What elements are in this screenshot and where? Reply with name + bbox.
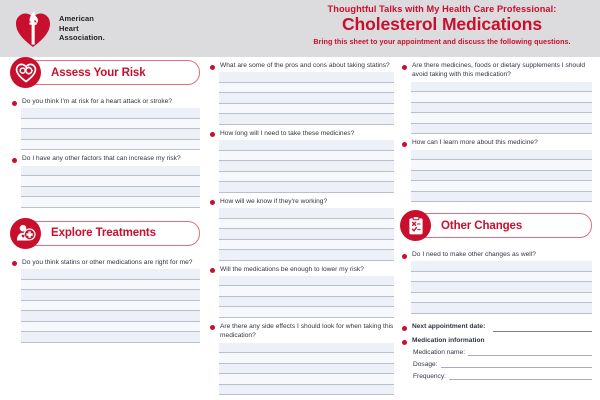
answer-line[interactable] (21, 140, 200, 151)
question-text: How long will I need to take these medic… (220, 129, 354, 138)
question-text: Do I need to make other changes as well? (412, 250, 536, 259)
answer-line[interactable] (411, 150, 592, 161)
bullet-icon (210, 132, 215, 137)
answer-line[interactable] (21, 119, 200, 130)
next-appointment-input[interactable] (493, 323, 592, 332)
answer-line[interactable] (411, 160, 592, 171)
bullet-icon (402, 326, 407, 331)
next-appointment-label: Next appointment date: (412, 323, 485, 330)
clipboard-checklist-icon (400, 210, 431, 241)
question-item: How long will I need to take these medic… (208, 129, 394, 193)
answer-line[interactable] (219, 93, 394, 104)
aha-logo-text: American Heart Association. (59, 14, 105, 44)
dosage-input[interactable] (441, 360, 592, 368)
answer-line[interactable] (21, 166, 200, 177)
answer-line[interactable] (219, 72, 394, 83)
answer-line[interactable] (21, 108, 200, 119)
worksheet-body: Assess Your Risk (0, 57, 600, 400)
logo-line-2: Heart (59, 24, 105, 34)
answer-line[interactable] (219, 151, 394, 162)
answer-line[interactable] (219, 353, 394, 364)
answer-lines[interactable] (219, 72, 394, 125)
answer-line[interactable] (411, 82, 592, 93)
section-title-explore-treatments: Explore Treatments (25, 227, 156, 239)
question-text: Are there medicines, foods or dietary su… (412, 61, 592, 80)
answer-line[interactable] (21, 129, 200, 140)
aha-heart-torch-logo-icon (14, 9, 52, 49)
section-title-other-changes: Other Changes (415, 220, 522, 232)
question-text: Do I have any other factors that can inc… (22, 154, 181, 163)
medication-name-input[interactable] (468, 348, 592, 356)
question-text: Are there any side effects I should look… (220, 322, 394, 341)
answer-line[interactable] (219, 286, 394, 297)
answer-line[interactable] (219, 297, 394, 308)
bullet-icon (210, 200, 215, 205)
question-text: How will we know if they're working? (220, 197, 327, 206)
bullet-icon (210, 268, 215, 273)
frequency-label: Frequency: (413, 373, 446, 380)
answer-line[interactable] (411, 293, 592, 304)
answer-line[interactable] (219, 208, 394, 219)
question-text: Do you think I'm at risk for a heart att… (22, 97, 172, 106)
answer-line[interactable] (21, 187, 200, 198)
section-title-assess-risk: Assess Your Risk (25, 67, 146, 79)
person-medical-cross-icon (10, 218, 41, 249)
bullet-icon (12, 158, 17, 163)
answer-line[interactable] (219, 172, 394, 183)
bullet-icon (402, 340, 407, 345)
column-middle: What are some of the pros and cons about… (208, 57, 394, 399)
answer-lines[interactable] (219, 208, 394, 261)
answer-line[interactable] (219, 114, 394, 125)
answer-line[interactable] (219, 229, 394, 240)
medication-name-label: Medication name: (413, 349, 465, 356)
question-item: Will the medications be enough to lower … (208, 265, 394, 318)
header-title-block: Thoughtful Talks with My Health Care Pro… (290, 4, 594, 46)
question-item: How can I learn more about this medicine… (400, 138, 592, 202)
answer-line[interactable] (411, 303, 592, 314)
bullet-icon (402, 65, 407, 70)
section-header-other-changes: Other Changes (400, 210, 592, 241)
answer-line[interactable] (411, 113, 592, 124)
page-title: Cholesterol Medications (290, 15, 594, 35)
answer-line[interactable] (411, 124, 592, 135)
medication-information-label: Medication information (412, 337, 485, 344)
section-pill-other-changes: Other Changes (414, 213, 592, 238)
question-item: Do I have any other factors that can inc… (10, 154, 200, 207)
answer-line[interactable] (411, 261, 592, 272)
appointment-field-block: Next appointment date: Medication inform… (400, 323, 592, 381)
answer-lines[interactable] (219, 276, 394, 318)
answer-lines[interactable] (411, 82, 592, 135)
answer-line[interactable] (411, 272, 592, 283)
question-text: Will the medications be enough to lower … (220, 265, 364, 274)
answer-line[interactable] (21, 197, 200, 208)
answer-line[interactable] (21, 280, 200, 291)
question-text: Do you think statins or other medication… (22, 258, 193, 267)
answer-line[interactable] (21, 332, 200, 343)
answer-line[interactable] (411, 92, 592, 103)
next-appointment-row: Next appointment date: (400, 323, 592, 332)
frequency-row: Frequency: (400, 372, 592, 380)
answer-lines[interactable] (411, 150, 592, 203)
heart-gears-icon (10, 57, 41, 88)
answer-line[interactable] (411, 103, 592, 114)
answer-line[interactable] (411, 171, 592, 182)
question-item: Do you think I'm at risk for a heart att… (10, 97, 200, 150)
header-kicker: Thoughtful Talks with My Health Care Pro… (290, 4, 594, 14)
question-item: What are some of the pros and cons about… (208, 61, 394, 125)
answer-line[interactable] (219, 343, 394, 354)
section-pill-explore-treatments: Explore Treatments (24, 221, 200, 246)
answer-line[interactable] (219, 104, 394, 115)
bullet-icon (402, 142, 407, 147)
bullet-icon (210, 325, 215, 330)
answer-lines[interactable] (21, 269, 200, 343)
question-item: Do I need to make other changes as well? (400, 250, 592, 314)
answer-line[interactable] (219, 182, 394, 193)
answer-line[interactable] (21, 269, 200, 280)
answer-lines[interactable] (411, 261, 592, 314)
answer-lines[interactable] (21, 166, 200, 208)
answer-line[interactable] (411, 192, 592, 203)
answer-line[interactable] (219, 83, 394, 94)
answer-line[interactable] (219, 364, 394, 375)
aha-logo: American Heart Association. (0, 9, 105, 49)
answer-line[interactable] (21, 176, 200, 187)
answer-lines[interactable] (219, 140, 394, 193)
header-subtitle: Bring this sheet to your appointment and… (290, 37, 594, 46)
bullet-icon (210, 65, 215, 70)
page-header: American Heart Association. Thoughtful T… (0, 0, 600, 57)
answer-line[interactable] (219, 385, 394, 396)
answer-line[interactable] (411, 282, 592, 293)
question-item: Are there any side effects I should look… (208, 322, 394, 395)
answer-line[interactable] (219, 219, 394, 230)
answer-line[interactable] (219, 140, 394, 151)
section-header-explore-treatments: Explore Treatments (10, 218, 200, 249)
question-item: Do you think statins or other medication… (10, 258, 200, 343)
dosage-label: Dosage: (413, 361, 438, 368)
question-item: How will we know if they're working? (208, 197, 394, 261)
answer-lines[interactable] (219, 343, 394, 396)
answer-line[interactable] (21, 290, 200, 301)
answer-line[interactable] (21, 301, 200, 312)
section-pill-assess-risk: Assess Your Risk (24, 60, 200, 85)
section-header-assess-risk: Assess Your Risk (10, 57, 200, 88)
answer-line[interactable] (21, 322, 200, 333)
medication-information-row: Medication information (400, 337, 592, 346)
answer-line[interactable] (21, 311, 200, 322)
answer-line[interactable] (219, 240, 394, 251)
answer-lines[interactable] (21, 108, 200, 150)
worksheet-page: American Heart Association. Thoughtful T… (0, 0, 600, 400)
bullet-icon (402, 254, 407, 259)
answer-line[interactable] (219, 161, 394, 172)
dosage-row: Dosage: (400, 360, 592, 368)
bullet-icon (12, 101, 17, 106)
answer-line[interactable] (411, 181, 592, 192)
logo-line-3: Association. (59, 33, 105, 43)
bullet-icon (12, 261, 17, 266)
answer-line[interactable] (219, 307, 394, 318)
medication-name-row: Medication name: (400, 348, 592, 356)
column-right: Are there medicines, foods or dietary su… (400, 57, 592, 384)
question-item: Are there medicines, foods or dietary su… (400, 61, 592, 134)
answer-line[interactable] (219, 374, 394, 385)
answer-line[interactable] (219, 276, 394, 287)
question-text: How can I learn more about this medicine… (412, 138, 538, 147)
answer-line[interactable] (219, 250, 394, 261)
question-text: What are some of the pros and cons about… (220, 61, 390, 70)
frequency-input[interactable] (449, 372, 592, 380)
column-left: Assess Your Risk (10, 57, 200, 347)
logo-line-1: American (59, 14, 105, 24)
